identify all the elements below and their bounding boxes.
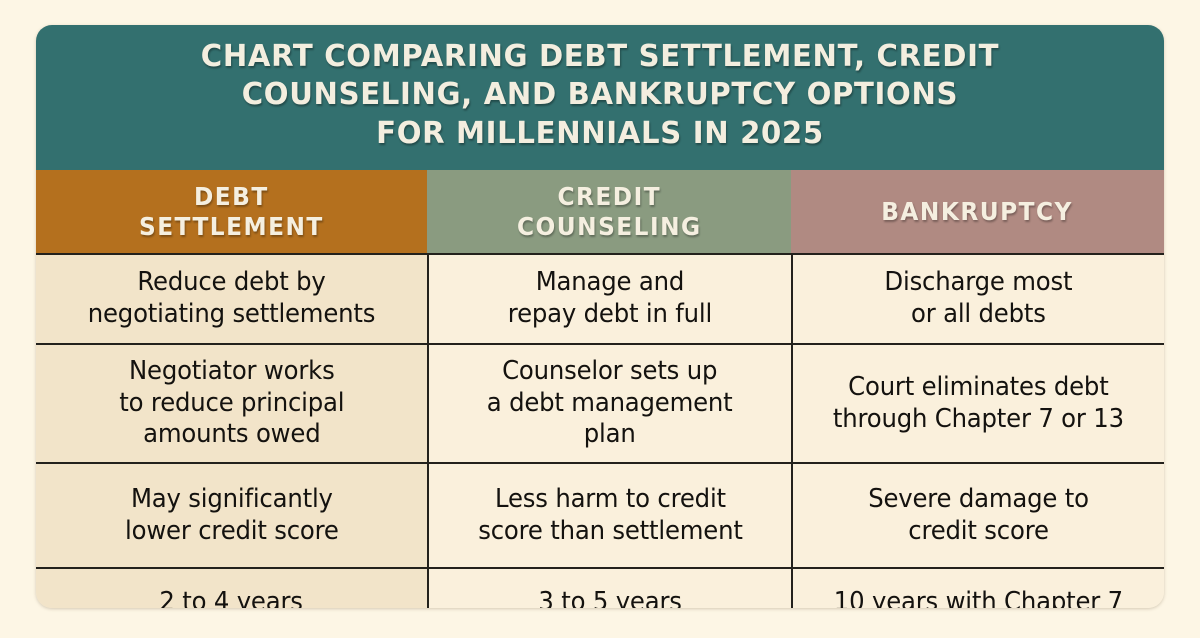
title-banner: CHART COMPARING DEBT SETTLEMENT, CREDIT … — [36, 25, 1164, 170]
cell-text: Manage and repay debt in full — [508, 267, 712, 330]
table-row: Negotiator works to reduce principal amo… — [36, 343, 1164, 462]
table-cell: Less harm to credit score than settlemen… — [427, 464, 791, 567]
cell-text: 10 years with Chapter 7 — [834, 587, 1123, 608]
cell-text: Severe damage to credit score — [868, 484, 1089, 547]
table-cell: Counselor sets up a debt management plan — [427, 345, 791, 462]
cell-text: May significantly lower credit score — [125, 484, 339, 547]
column-header-bankruptcy: BANKRUPTCY — [791, 170, 1164, 253]
cell-text: Discharge most or all debts — [885, 267, 1073, 330]
table-cell: 10 years with Chapter 7 — [791, 569, 1164, 608]
table-cell: May significantly lower credit score — [36, 464, 427, 567]
column-header-credit-counseling: CREDIT COUNSELING — [427, 170, 791, 253]
cell-text: 3 to 5 years — [538, 587, 681, 608]
cell-text: 2 to 4 years — [160, 587, 303, 608]
page-title: CHART COMPARING DEBT SETTLEMENT, CREDIT … — [201, 38, 999, 153]
column-header-debt-settlement-label: DEBT SETTLEMENT — [139, 182, 324, 241]
table-cell: Severe damage to credit score — [791, 464, 1164, 567]
table-cell: Negotiator works to reduce principal amo… — [36, 345, 427, 462]
table-row: 2 to 4 years 3 to 5 years 10 years with … — [36, 567, 1164, 608]
table-cell: Court eliminates debt through Chapter 7 … — [791, 345, 1164, 462]
comparison-table-card: CHART COMPARING DEBT SETTLEMENT, CREDIT … — [36, 25, 1164, 608]
column-header-debt-settlement: DEBT SETTLEMENT — [36, 170, 427, 253]
table-cell: Discharge most or all debts — [791, 255, 1164, 343]
table-row: Reduce debt by negotiating settlements M… — [36, 253, 1164, 343]
table-cell: 2 to 4 years — [36, 569, 427, 608]
cell-text: Reduce debt by negotiating settlements — [88, 267, 375, 330]
column-header-credit-counseling-label: CREDIT COUNSELING — [517, 182, 702, 241]
table-header-row: DEBT SETTLEMENT CREDIT COUNSELING BANKRU… — [36, 170, 1164, 253]
cell-text: Less harm to credit score than settlemen… — [478, 484, 742, 547]
cell-text: Counselor sets up a debt management plan — [487, 356, 733, 451]
infographic-page: CHART COMPARING DEBT SETTLEMENT, CREDIT … — [0, 0, 1200, 638]
table-row: May significantly lower credit score Les… — [36, 462, 1164, 567]
cell-text: Court eliminates debt through Chapter 7 … — [833, 372, 1124, 435]
table-cell: Manage and repay debt in full — [427, 255, 791, 343]
table-cell: 3 to 5 years — [427, 569, 791, 608]
cell-text: Negotiator works to reduce principal amo… — [119, 356, 344, 451]
column-header-bankruptcy-label: BANKRUPTCY — [882, 197, 1074, 226]
table-cell: Reduce debt by negotiating settlements — [36, 255, 427, 343]
